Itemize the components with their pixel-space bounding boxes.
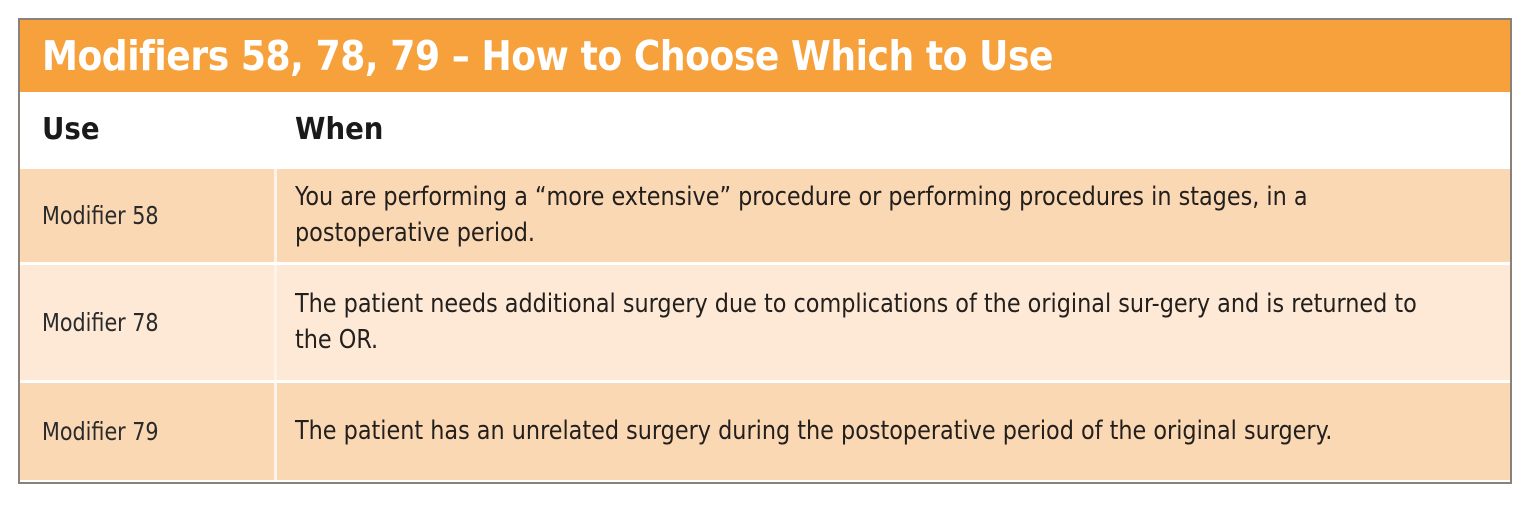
cell-when: The patient has an unrelated surgery dur…: [277, 383, 1510, 480]
cell-use: Modifier 78: [20, 265, 277, 380]
cell-use: Modifier 79: [20, 383, 277, 480]
cell-when-text: You are performing a “more extensive” pr…: [295, 180, 1430, 252]
modifiers-table: Modifiers 58, 78, 79 – How to Choose Whi…: [18, 18, 1512, 484]
column-header-use: Use: [20, 92, 277, 166]
cell-when: You are performing a “more extensive” pr…: [277, 169, 1510, 262]
cell-when-text: The patient has an unrelated surgery dur…: [295, 414, 1332, 450]
page-root: Modifiers 58, 78, 79 – How to Choose Whi…: [0, 0, 1536, 506]
column-header-when: When: [277, 92, 1510, 166]
table-row: Modifier 58 You are performing a “more e…: [20, 166, 1510, 262]
cell-use-label: Modifier 58: [42, 201, 159, 230]
table-row: Modifier 78 The patient needs additional…: [20, 262, 1510, 380]
cell-use: Modifier 58: [20, 169, 277, 262]
cell-use-label: Modifier 79: [42, 417, 159, 446]
column-header-use-label: Use: [42, 112, 100, 147]
table-header-row: Use When: [20, 92, 1510, 166]
cell-when-text: The patient needs additional surgery due…: [295, 287, 1430, 359]
table-row: Modifier 79 The patient has an unrelated…: [20, 380, 1510, 480]
table-title: Modifiers 58, 78, 79 – How to Choose Whi…: [42, 36, 1053, 77]
cell-when: The patient needs additional surgery due…: [277, 265, 1510, 380]
column-header-when-label: When: [295, 112, 383, 147]
table-title-bar: Modifiers 58, 78, 79 – How to Choose Whi…: [20, 20, 1510, 92]
cell-use-label: Modifier 78: [42, 308, 159, 337]
